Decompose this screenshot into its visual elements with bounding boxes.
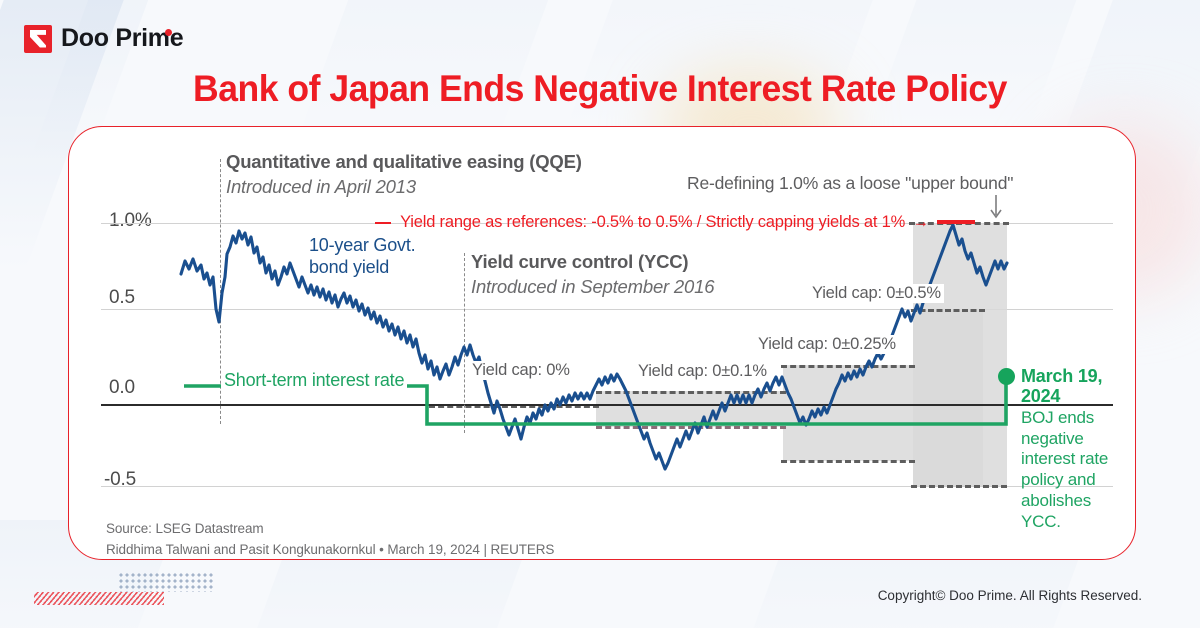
series-label-10y-line2: bond yield [309, 257, 415, 279]
annotation-yield-range-dash [375, 222, 391, 224]
event-description-line4: policy and [1021, 470, 1108, 491]
annotation-qqe-title: Quantitative and qualitative easing (QQE… [226, 151, 582, 173]
footer-copyright: Copyright© Doo Prime. All Rights Reserve… [878, 588, 1142, 603]
event-date-line1: March 19, [1021, 366, 1102, 387]
brand-logo[interactable]: Doo Prime [24, 24, 183, 53]
chart-plot-area: 1.0% 0.5 0.0 -0.5 [69, 127, 1135, 559]
event-date-line2: 2024 [1021, 386, 1060, 407]
event-description-line1: BOJ ends [1021, 408, 1108, 429]
down-arrow-icon [987, 195, 1005, 221]
annotation-yield-range-bar [937, 220, 975, 224]
annotation-cap-0.5pct: Yield cap: 0±0.5% [809, 284, 944, 303]
annotation-yield-range: Yield range as references: -0.5% to 0.5%… [375, 213, 975, 232]
series-label-short-term-rate: Short-term interest rate [221, 370, 407, 391]
annotation-qqe-subtitle: Introduced in April 2013 [226, 176, 416, 198]
doo-prime-logo-icon [24, 25, 52, 53]
event-description-line2: negative [1021, 429, 1108, 450]
annotation-ycc-subtitle: Introduced in September 2016 [471, 276, 714, 298]
event-description-line6: YCC. [1021, 512, 1108, 533]
footer-hatch-decoration [34, 592, 164, 605]
annotation-upper-bound: Re-defining 1.0% as a loose "upper bound… [684, 173, 1016, 194]
chart-source: Source: LSEG Datastream [106, 521, 264, 536]
chart-card: 1.0% 0.5 0.0 -0.5 [68, 126, 1136, 560]
annotation-cap-0.25pct: Yield cap: 0±0.25% [755, 335, 899, 354]
brand-accent-dot-icon [165, 29, 172, 36]
right-arrow-icon: → [913, 213, 929, 231]
brand-name: Doo Prime [61, 24, 183, 52]
annotation-ycc-title: Yield curve control (YCC) [471, 251, 688, 273]
series-label-10y-bond-yield: 10-year Govt. bond yield [309, 235, 415, 279]
event-description-line3: interest rate [1021, 449, 1108, 470]
footer-dot-pattern-decoration [118, 572, 214, 592]
annotation-yield-range-text: Yield range as references: -0.5% to 0.5%… [400, 213, 905, 231]
event-marker-dot-icon [998, 368, 1015, 385]
annotation-cap-0pct: Yield cap: 0% [469, 361, 573, 380]
series-label-10y-line1: 10-year Govt. [309, 235, 415, 257]
chart-credits: Riddhima Talwani and Pasit Kongkunakornk… [106, 542, 554, 557]
page-title: Bank of Japan Ends Negative Interest Rat… [24, 68, 1176, 110]
event-description-line5: abolishes [1021, 491, 1108, 512]
event-description: BOJ ends negative interest rate policy a… [1021, 408, 1108, 532]
annotation-cap-0.1pct: Yield cap: 0±0.1% [635, 362, 770, 381]
